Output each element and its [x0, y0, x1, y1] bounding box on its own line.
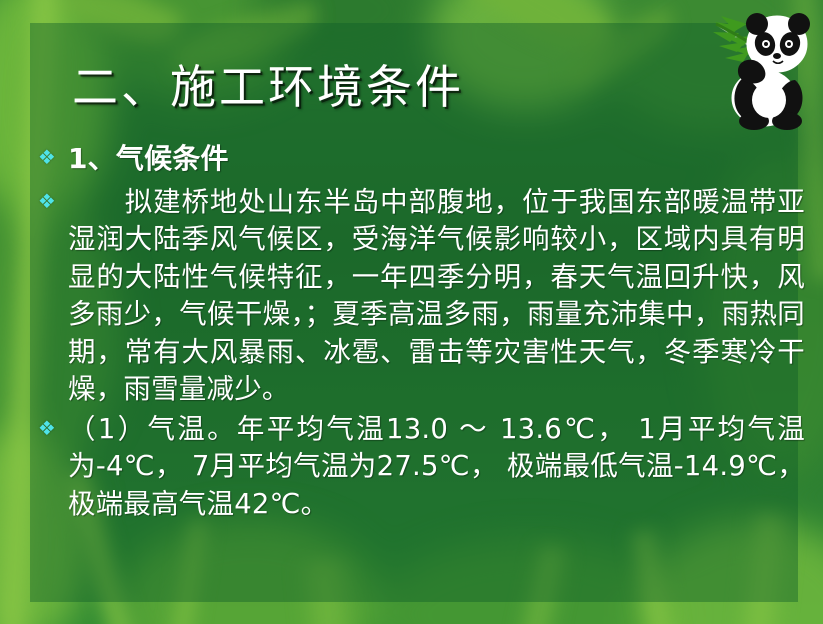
- panda-with-bamboo-icon: [707, 2, 817, 134]
- slide-canvas: 二、施工环境条件: [0, 0, 823, 624]
- diamond-cluster-bullet-icon: ❖: [36, 145, 58, 169]
- bullet-item-climate-description-label: 拟建桥地处山东半岛中部腹地，位于我国东部暖温带亚湿润大陆季风气候区，受海洋气候影…: [68, 186, 805, 406]
- bullet-item-temperature-label: （1）气温。年平均气温13.0 ～ 13.6℃， 1月平均气温为-4℃， 7月平…: [68, 413, 805, 520]
- bullet-item-climate-heading: ❖ 1、气候条件: [30, 140, 805, 178]
- diamond-cluster-bullet-icon: ❖: [36, 416, 58, 440]
- diamond-cluster-bullet-icon: ❖: [36, 189, 58, 213]
- page-title: 二、施工环境条件: [72, 59, 464, 115]
- bullet-item-climate-description: ❖ 拟建桥地处山东半岛中部腹地，位于我国东部暖温带亚湿润大陆季风气候区，受海洋气…: [30, 184, 805, 409]
- bullet-item-climate-heading-label: 1、气候条件: [68, 142, 229, 175]
- body-text-area: ❖ 1、气候条件 ❖ 拟建桥地处山东半岛中部腹地，位于我国东部暖温带亚湿润大陆季…: [30, 140, 805, 525]
- bullet-item-temperature: ❖ （1）气温。年平均气温13.0 ～ 13.6℃， 1月平均气温为-4℃， 7…: [30, 411, 805, 524]
- title-bar: 二、施工环境条件: [30, 23, 798, 131]
